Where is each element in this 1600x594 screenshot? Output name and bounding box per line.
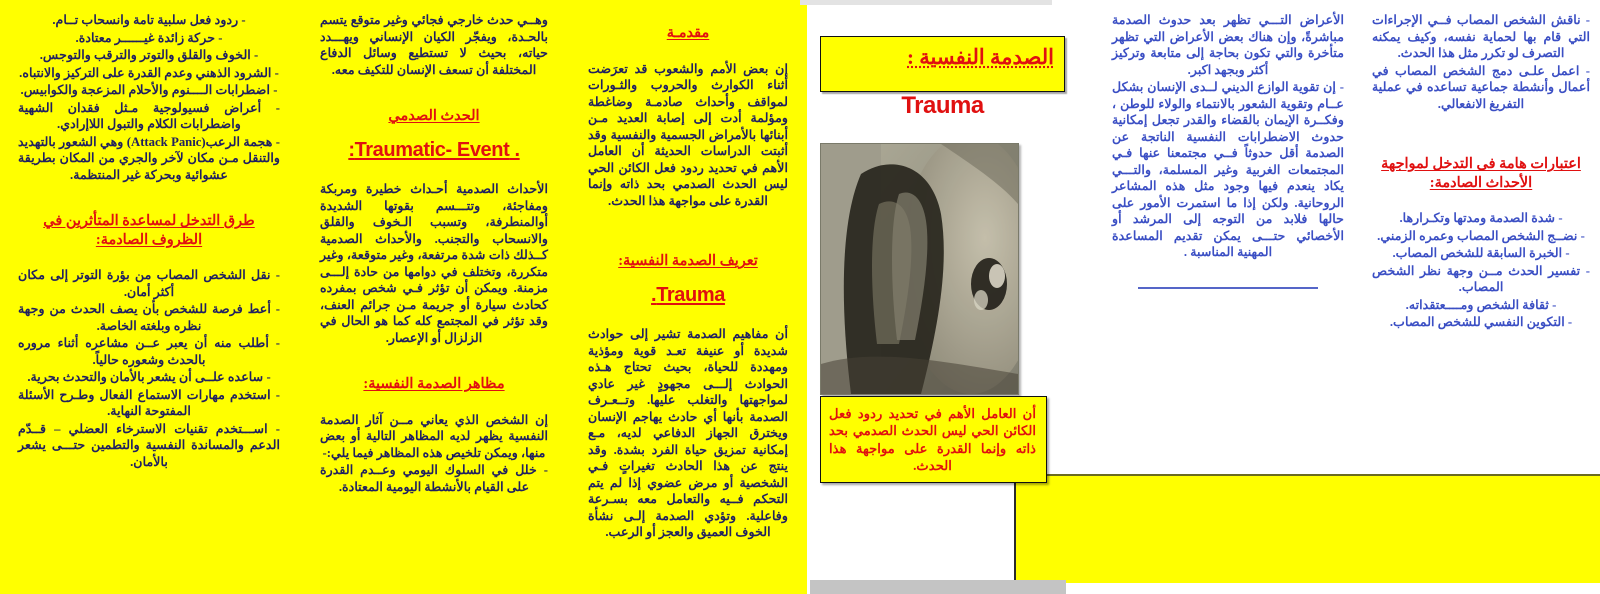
column-considerations: - ناقش الشخص المصاب فــي الإجراءات التي … — [1372, 0, 1590, 332]
body-paragraph: - نضــج الشخص المصاب وعمره الزمني. — [1372, 228, 1590, 245]
body-paragraph: - نقل الشخص المصاب من بؤرة التوتر إلى مك… — [18, 267, 280, 300]
vertical-spacer — [320, 79, 548, 95]
column-late-symptoms: الأعراض التـــي تظهر بعد حدوث الصدمة مبا… — [1112, 0, 1344, 289]
cover-callout-text: أن العامل الأهم في تحديد ردود فعل الكائن… — [829, 405, 1036, 475]
section-heading: الحدث الصدمي — [320, 107, 548, 126]
cover-title-box: الصدمة النفسية : — [820, 36, 1065, 92]
bottom-left-yellow-stub — [0, 578, 32, 594]
horizontal-rule — [1138, 287, 1318, 289]
section-heading: مقدمـة — [588, 24, 788, 43]
top-gray-band — [800, 0, 1052, 5]
body-paragraph: - اعمل علـى دمج الشخص المصاب في أعمال وأ… — [1372, 63, 1590, 113]
body-paragraph: إن بعض الأمم والشعوب قد تعرَضت أثناء الك… — [588, 61, 788, 210]
body-paragraph: - أعط فرصة للشخص بأن يصف الحدث من وجهة ن… — [18, 301, 280, 334]
body-paragraph: أن مفاهيم الصدمة تشير إلى حوادث شديدة أو… — [588, 326, 788, 541]
body-paragraph: - الخوف والقلق والتوتر والترقب والتوجس. — [18, 47, 280, 64]
body-paragraph: إن الشخص الذي يعاني مــن آثار الصدمة الن… — [320, 412, 548, 462]
body-paragraph: - الخبرة السابقة للشخص المصاب. — [1372, 245, 1590, 262]
vertical-spacer — [320, 173, 548, 181]
section-heading: Trauma. — [588, 283, 788, 309]
body-paragraph: - اســـتخدم تقنيات الاسترخاء العضلي – قـ… — [18, 421, 280, 471]
panel-fold-line — [1014, 474, 1016, 581]
cover-callout-box: أن العامل الأهم في تحديد ردود فعل الكائن… — [820, 396, 1047, 483]
vertical-spacer — [588, 53, 788, 61]
body-paragraph: - الشرود الذهني وعدم القدرة على التركيز … — [18, 65, 280, 82]
body-paragraph: - أطلب منه أن يعبر عــن مشاعره أثناء مرو… — [18, 335, 280, 368]
body-paragraph: - تفسير الحدث مــن وجهة نظر الشخص المصاب… — [1372, 263, 1590, 296]
body-paragraph: - ناقش الشخص المصاب فــي الإجراءات التي … — [1372, 12, 1590, 62]
body-paragraph: - هجمة الرعب(Attack Panic) وهي الشعور با… — [18, 134, 280, 184]
cover-title-arabic: الصدمة النفسية : — [907, 45, 1054, 70]
section-heading: اعتبارات هامة فى التدخل لمواجهة الأحداث … — [1372, 155, 1590, 192]
body-paragraph: - أعراض فسيولوجية مـثل فقدان الشهية واضط… — [18, 100, 280, 133]
body-paragraph: - التكوين النفسي للشخص المصاب. — [1372, 314, 1590, 331]
bottom-right-yellow-panel — [1016, 474, 1600, 583]
vertical-spacer — [18, 259, 280, 267]
body-paragraph: - ساعده علــى أن يشعر بالأمان والتحدث بح… — [18, 369, 280, 386]
vertical-spacer — [588, 210, 788, 240]
cover-title-latin: Trauma — [820, 92, 1065, 120]
body-paragraph: - ردود فعل سلبية تامة وانسحاب تــام. — [18, 12, 280, 29]
body-paragraph: - ثقافة الشخص ومــــعتقداته. — [1372, 297, 1590, 314]
column-introduction: مقدمـةإن بعض الأمم والشعوب قد تعرَضت أثن… — [588, 0, 788, 542]
body-paragraph: - شدة الصدمة ومدتها وتكـرارها. — [1372, 210, 1590, 227]
body-paragraph: - استخدم مهارات الاستماع الفعال وطـرح ال… — [18, 387, 280, 420]
body-paragraph: - خلل في السلوك اليومي وعــدم القدرة على… — [320, 462, 548, 495]
vertical-spacer — [320, 404, 548, 412]
brochure-page: - ردود فعل سلبية تامة وانسحاب تــام.- حر… — [0, 0, 1600, 594]
section-heading: تعريف الصدمة النفسية: — [588, 252, 788, 271]
body-paragraph: الأعراض التـــي تظهر بعد حدوث الصدمة مبا… — [1112, 12, 1344, 78]
section-heading: . Traumatic- Event: — [320, 138, 548, 164]
column-symptoms-and-intervention: - ردود فعل سلبية تامة وانسحاب تــام.- حر… — [18, 0, 280, 471]
vertical-spacer — [320, 347, 548, 363]
body-paragraph: وهــي حدث خارجي فجائي وغير متوقع يتسم با… — [320, 12, 548, 78]
body-paragraph: - حركة زائدة غيــــــر معتادة. — [18, 30, 280, 47]
body-paragraph: - إن تقوية الوازع الديني لــدى الإنسان ب… — [1112, 79, 1344, 261]
vertical-spacer — [588, 318, 788, 326]
vertical-spacer — [1372, 202, 1590, 210]
section-heading: طرق التدخل لمساعدة المتأثرين في الظروف ا… — [18, 212, 280, 249]
vertical-spacer — [18, 184, 280, 200]
section-heading: مظاهر الصدمة النفسية: — [320, 375, 548, 394]
body-paragraph: - اضطرابات الــــنوم والأحلام المزعجة وا… — [18, 82, 280, 99]
body-paragraph: الأحداث الصدمية أحـداث خطيرة ومربكة ومفا… — [320, 181, 548, 346]
cover-photo-hands-covering-face — [820, 143, 1019, 395]
column-traumatic-event: وهــي حدث خارجي فجائي وغير متوقع يتسم با… — [320, 0, 548, 496]
vertical-spacer — [1372, 113, 1590, 143]
bottom-gray-band — [810, 580, 1066, 594]
